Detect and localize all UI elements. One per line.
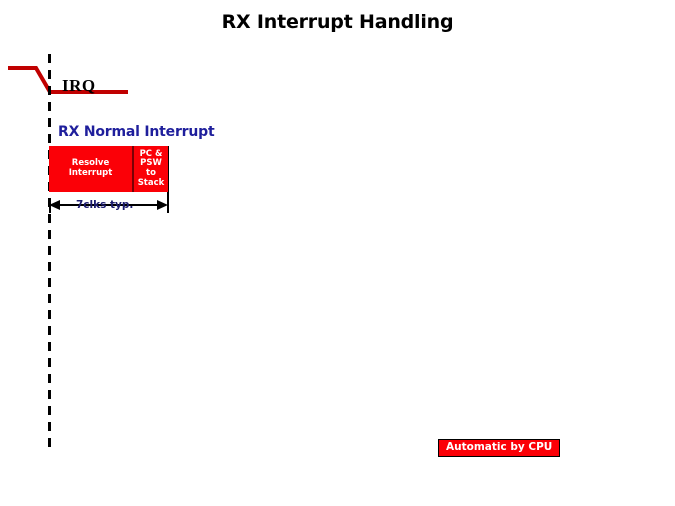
stage-resolve-line-2: Interrupt (69, 169, 113, 179)
legend-automatic-by-cpu: Automatic by CPU (438, 439, 560, 457)
slide-canvas: RX Interrupt Handling IRQ RX Normal Inte… (0, 0, 675, 506)
diagram-vector-layer (0, 0, 675, 506)
stage-pcpsw-line-4: Stack (138, 179, 165, 189)
stage-pc-psw-to-stack: PC & PSW to Stack (134, 146, 168, 192)
stage-resolve-interrupt: Resolve Interrupt (49, 146, 134, 192)
timing-label: 7clks typ. (76, 199, 133, 211)
sequence-heading: RX Normal Interrupt (58, 124, 214, 140)
irq-signal-label: IRQ (62, 76, 96, 96)
page-title: RX Interrupt Handling (0, 11, 675, 33)
interrupt-stage-row: Resolve Interrupt PC & PSW to Stack (49, 146, 168, 192)
